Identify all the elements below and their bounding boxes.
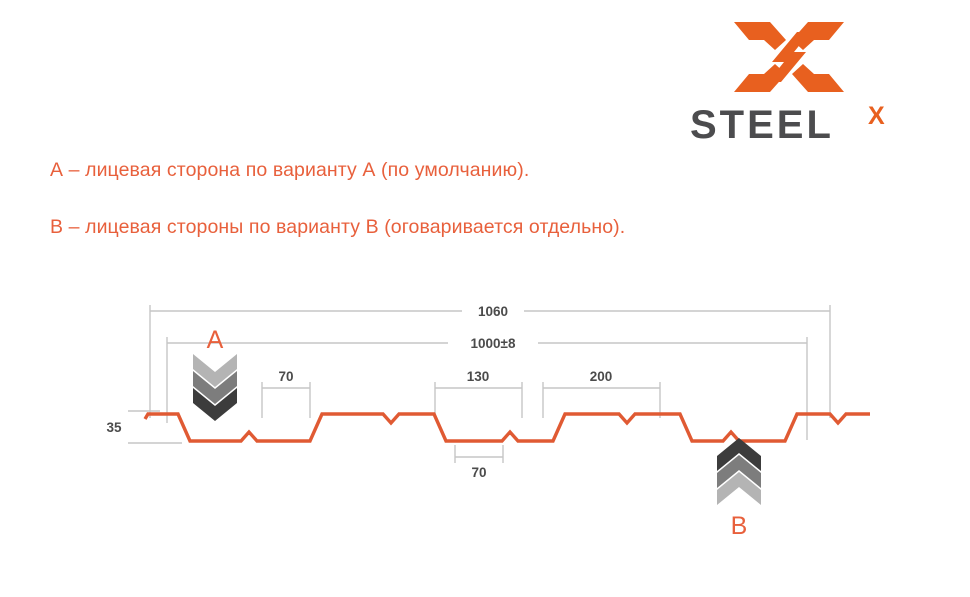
dim-1060-label: 1060 xyxy=(478,304,508,319)
dimension-130: 130 xyxy=(435,369,522,388)
dimension-1000: 1000±8 xyxy=(167,336,807,351)
dim-200-label: 200 xyxy=(590,369,613,384)
dimension-70-bottom: 70 xyxy=(455,457,503,480)
marker-a-letter: А xyxy=(207,326,224,354)
sheet-profile-path xyxy=(145,414,870,441)
dim-70-top-label: 70 xyxy=(278,369,293,384)
dimension-70-top: 70 xyxy=(262,369,310,388)
marker-b: В xyxy=(717,438,761,540)
dim-1000-label: 1000±8 xyxy=(471,336,516,351)
dimension-200: 200 xyxy=(543,369,660,388)
dim-35-label: 35 xyxy=(106,420,122,435)
dimension-35: 35 xyxy=(106,420,122,435)
dim-70-bot-label: 70 xyxy=(471,465,486,480)
marker-a: А xyxy=(193,326,237,421)
profile-technical-drawing: 1060 1000±8 70 130 200 70 35 А xyxy=(0,0,970,597)
marker-b-letter: В xyxy=(731,512,748,540)
dimension-1060: 1060 xyxy=(150,304,830,319)
dim-130-label: 130 xyxy=(467,369,490,384)
